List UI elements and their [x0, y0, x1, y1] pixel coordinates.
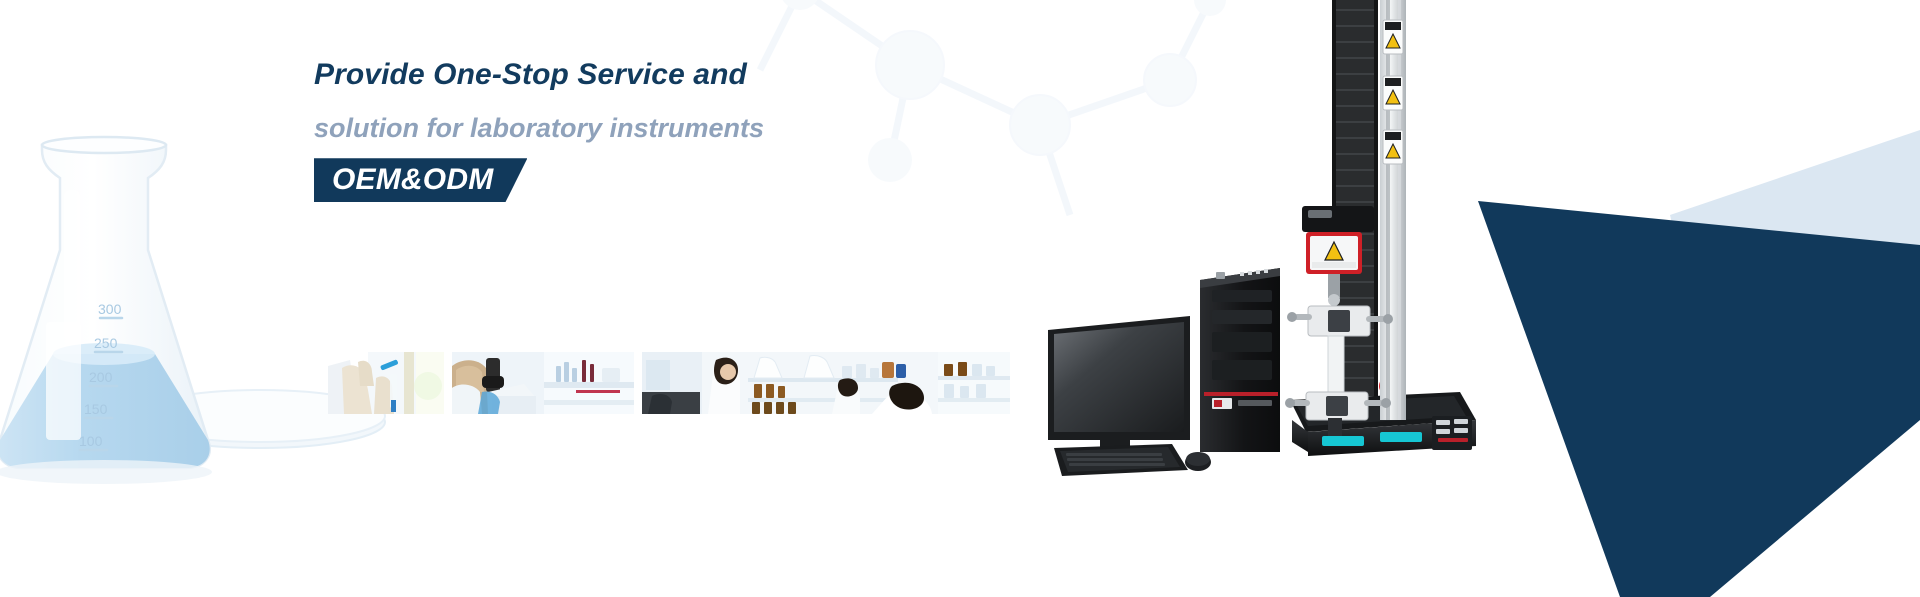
warning-label: [1383, 20, 1403, 54]
keyboard: [1054, 444, 1188, 476]
lower-grip: [1285, 392, 1391, 420]
svg-text:250: 250: [94, 335, 118, 351]
warning-label: [1383, 76, 1403, 110]
desktop-monitor: [1048, 316, 1190, 459]
arrow-dark-shape: [1478, 201, 1920, 597]
universal-testing-machine: [1285, 0, 1476, 456]
svg-text:200: 200: [89, 369, 113, 385]
headline-block: Provide One-Stop Service and solution fo…: [314, 55, 1074, 202]
oem-odm-badge: OEM&ODM: [314, 158, 527, 202]
warning-label: [1383, 130, 1403, 164]
headline-line-2: solution for laboratory instruments: [314, 111, 1074, 146]
hero-banner: 300 250 200 150 100 Provide One-Stop Ser…: [0, 0, 1920, 597]
photo-laboratory-workers: [642, 352, 1010, 414]
svg-text:100: 100: [79, 433, 103, 449]
equipment-cluster: [1040, 0, 1490, 480]
mouse: [1185, 452, 1211, 471]
computer-tower: [1200, 268, 1280, 452]
svg-text:150: 150: [84, 401, 108, 417]
arrow-light-shape: [1670, 130, 1920, 360]
photo-microscope-researcher: [452, 352, 634, 414]
load-cell: [1302, 206, 1374, 274]
photo-pipetting-gloved-hands: [328, 352, 444, 414]
svg-text:300: 300: [98, 301, 122, 317]
oem-odm-badge-wrapper: OEM&ODM: [314, 158, 527, 202]
photo-strip: [328, 352, 1010, 414]
decorative-arrow-shapes: [1190, 0, 1920, 597]
headline-line-1: Provide One-Stop Service and: [314, 55, 1074, 95]
upper-grip: [1287, 306, 1393, 336]
